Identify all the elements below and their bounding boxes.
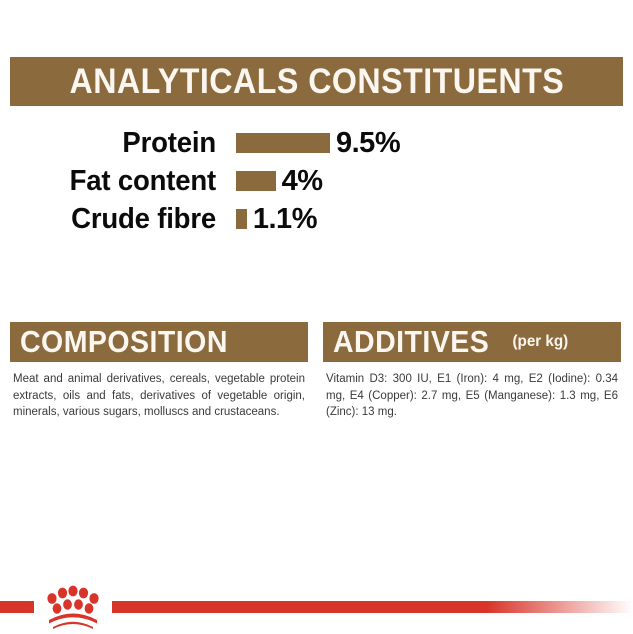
nutrient-bar <box>236 133 330 153</box>
composition-header: COMPOSITION <box>10 322 308 362</box>
nutrient-list: Protein 9.5% Fat content 4% Crude fibre … <box>0 124 633 238</box>
additives-card: ADDITIVES (per kg) Vitamin D3: 300 IU, E… <box>323 322 621 421</box>
nutrient-bar-group: 1.1% <box>236 203 317 236</box>
additives-body-text: Vitamin D3: 300 IU, E1 (Iron): 4 mg, E2 … <box>323 371 621 421</box>
nutrition-label-panel: ANALYTICALS CONSTITUENTS Protein 9.5% Fa… <box>0 0 633 634</box>
analyticals-constituents-title: ANALYTICALS CONSTITUENTS <box>69 62 564 102</box>
nutrient-bar-group: 9.5% <box>236 127 400 160</box>
composition-body-text: Meat and animal derivatives, cereals, ve… <box>10 371 308 421</box>
footer <box>0 565 633 634</box>
nutrient-value: 9.5% <box>336 127 400 160</box>
composition-title: COMPOSITION <box>20 324 228 360</box>
nutrient-bar-group: 4% <box>236 165 323 198</box>
composition-card: COMPOSITION Meat and animal derivatives,… <box>10 322 308 421</box>
footer-band-left <box>0 601 34 613</box>
nutrient-label: Crude fibre <box>11 203 216 236</box>
royal-canin-crown-icon <box>38 583 108 629</box>
nutrient-row: Crude fibre 1.1% <box>0 200 633 238</box>
nutrient-value: 1.1% <box>253 203 317 236</box>
footer-band-right <box>112 601 633 613</box>
additives-title: ADDITIVES <box>333 324 489 360</box>
additives-per-kg-label: (per kg) <box>512 333 568 351</box>
nutrient-value: 4% <box>282 165 323 198</box>
nutrient-label: Fat content <box>11 165 216 198</box>
nutrient-row: Protein 9.5% <box>0 124 633 162</box>
additives-header: ADDITIVES (per kg) <box>323 322 621 362</box>
analyticals-constituents-header: ANALYTICALS CONSTITUENTS <box>10 57 623 106</box>
nutrient-row: Fat content 4% <box>0 162 633 200</box>
nutrient-bar <box>236 209 247 229</box>
nutrient-bar <box>236 171 276 191</box>
nutrient-label: Protein <box>11 127 216 160</box>
